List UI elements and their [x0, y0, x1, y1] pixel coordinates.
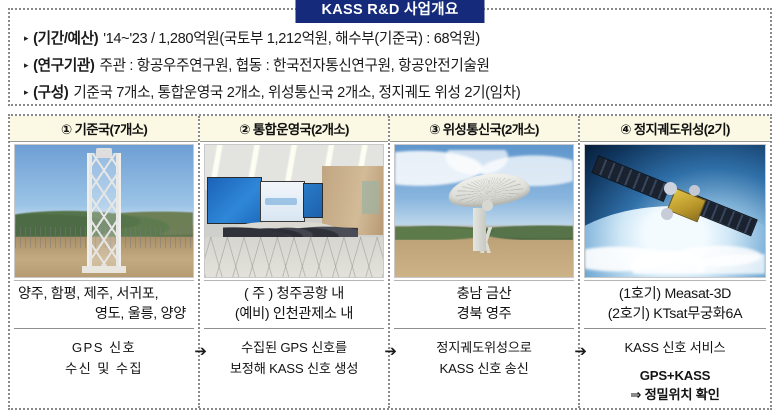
function-text: 수집된 GPS 신호를 보정해 KASS 신호 생성 [230, 338, 358, 379]
summary-bullet-period-budget: ▸ (기간/예산) '14~'23 / 1,280억원(국토부 1,212억원,… [16, 27, 764, 54]
kass-rnd-overview-infographic: KASS R&D 사업개요 ▸ (기간/예산) '14~'23 / 1,280억… [0, 0, 780, 418]
caption-line: 양주, 함평, 제주, 서귀포, [16, 284, 158, 304]
summary-bullet-value: '14~'23 / 1,280억원(국토부 1,212억원, 해수부(기준국) … [103, 27, 480, 48]
function-line: 수신 및 수집 [65, 359, 143, 379]
caption-line: 경북 영주 [457, 304, 512, 324]
segment-grid: ① 기준국(7개소) 양주, 함평, 제주, 서귀포, 영도, 울릉, 양양 G… [8, 114, 772, 410]
column-header-reference-station: ① 기준국(7개소) [10, 116, 198, 142]
column-caption-geostationary-satellite: (1호기) Measat-3D (2호기) KTsat무궁화6A [584, 280, 766, 329]
function-highlight: GPS+KASS ⇒ 정밀위치 확인 [625, 366, 726, 404]
caption-line: 영도, 울릉, 양양 [95, 304, 192, 324]
bullet-marker-icon: ▸ [24, 87, 28, 98]
caption-line: (1호기) Measat-3D [619, 284, 731, 304]
function-text: GPS 신호 수신 및 수집 [65, 338, 143, 379]
bullet-marker-icon: ▸ [24, 60, 28, 71]
segment-column-geostationary-satellite: ④ 정지궤도위성(2기) (1호기) Measat-3D (2호기) KTsat… [580, 116, 770, 408]
geostationary-satellite-photo [584, 144, 766, 278]
function-highlight-line: GPS+KASS [625, 366, 726, 385]
antenna-top-decor [96, 148, 112, 158]
flow-arrow-icon: ➔ [194, 344, 207, 359]
bullet-marker-icon: ▸ [24, 33, 28, 44]
function-line: 정지궤도위성으로 [436, 338, 531, 358]
function-line: KASS 신호 서비스 [625, 338, 726, 358]
solar-panel-decor [591, 155, 670, 202]
column-function-operations-center: 수집된 GPS 신호를 보정해 KASS 신호 생성 ➔ [200, 329, 388, 408]
function-text: KASS 신호 서비스 GPS+KASS ⇒ 정밀위치 확인 [625, 338, 726, 404]
caption-line: (예비) 인천관제소 내 [235, 304, 353, 324]
column-function-reference-station: GPS 신호 수신 및 수집 ➔ [10, 329, 198, 408]
column-header-geostationary-satellite: ④ 정지궤도위성(2기) [580, 116, 770, 142]
column-caption-uplink-station: 충남 금산 경북 영주 [394, 280, 574, 329]
summary-bullet-value: 기준국 7개소, 통합운영국 2개소, 위성통신국 2개소, 정지궤도 위성 2… [73, 81, 520, 102]
page-title: KASS R&D 사업개요 [295, 0, 484, 23]
segment-column-uplink-station: ③ 위성통신국(2개소) 충남 금산 경북 영주 정지궤도위성으로 KASS 신… [390, 116, 580, 408]
column-caption-reference-station: 양주, 함평, 제주, 서귀포, 영도, 울릉, 양양 [14, 280, 194, 329]
column-function-uplink-station: 정지궤도위성으로 KASS 신호 송신 ➔ [390, 329, 578, 408]
satellite-antenna-decor [661, 208, 673, 220]
flow-arrow-icon: ➔ [384, 344, 397, 359]
summary-bullet-composition: ▸ (구성) 기준국 7개소, 통합운영국 2개소, 위성통신국 2개소, 정지… [16, 81, 764, 108]
clouds-decor [585, 224, 765, 274]
function-line: 보정해 KASS 신호 생성 [230, 359, 358, 379]
antenna-mast-decor [87, 153, 121, 267]
function-line: 수집된 GPS 신호를 [230, 338, 358, 358]
dish-pedestal-decor [473, 208, 486, 250]
segment-column-operations-center: ② 통합운영국(2개소) ( 주 ) 청주공항 내 (예비) 인천관제소 내 수… [200, 116, 390, 408]
summary-panel: KASS R&D 사업개요 ▸ (기간/예산) '14~'23 / 1,280억… [8, 8, 772, 106]
summary-bullet-value: 주관 : 항공우주연구원, 협동 : 한국전자통신연구원, 항공안전기술원 [100, 54, 490, 75]
column-header-operations-center: ② 통합운영국(2개소) [200, 116, 388, 142]
antenna-base-decor [82, 266, 126, 273]
satellite-uplink-station-photo [394, 144, 574, 278]
caption-line: ( 주 ) 청주공항 내 [244, 284, 344, 304]
caption-line: (2호기) KTsat무궁화6A [608, 304, 743, 324]
caption-line: 충남 금산 [457, 284, 512, 304]
summary-bullet-research-institutes: ▸ (연구기관) 주관 : 항공우주연구원, 협동 : 한국전자통신연구원, 항… [16, 54, 764, 81]
function-highlight-line: ⇒ 정밀위치 확인 [625, 385, 726, 404]
column-function-geostationary-satellite: KASS 신호 서비스 GPS+KASS ⇒ 정밀위치 확인 [580, 329, 770, 408]
flow-arrow-icon: ➔ [574, 344, 587, 359]
floor-tiles-decor [205, 237, 383, 277]
integrated-operations-center-photo [204, 144, 384, 278]
function-line: KASS 신호 송신 [436, 359, 531, 379]
column-caption-operations-center: ( 주 ) 청주공항 내 (예비) 인천관제소 내 [204, 280, 384, 329]
summary-bullet-label: (구성) [33, 81, 68, 102]
summary-bullet-label: (연구기관) [33, 54, 94, 75]
reference-station-tower-photo [14, 144, 194, 278]
summary-bullet-label: (기간/예산) [33, 27, 98, 48]
function-line: GPS 신호 [65, 338, 143, 358]
column-header-uplink-station: ③ 위성통신국(2개소) [390, 116, 578, 142]
segment-column-reference-station: ① 기준국(7개소) 양주, 함평, 제주, 서귀포, 영도, 울릉, 양양 G… [10, 116, 200, 408]
summary-bullet-list: ▸ (기간/예산) '14~'23 / 1,280억원(국토부 1,212억원,… [10, 27, 770, 108]
function-text: 정지궤도위성으로 KASS 신호 송신 [436, 338, 531, 379]
satellite-antenna-decor [689, 185, 700, 196]
